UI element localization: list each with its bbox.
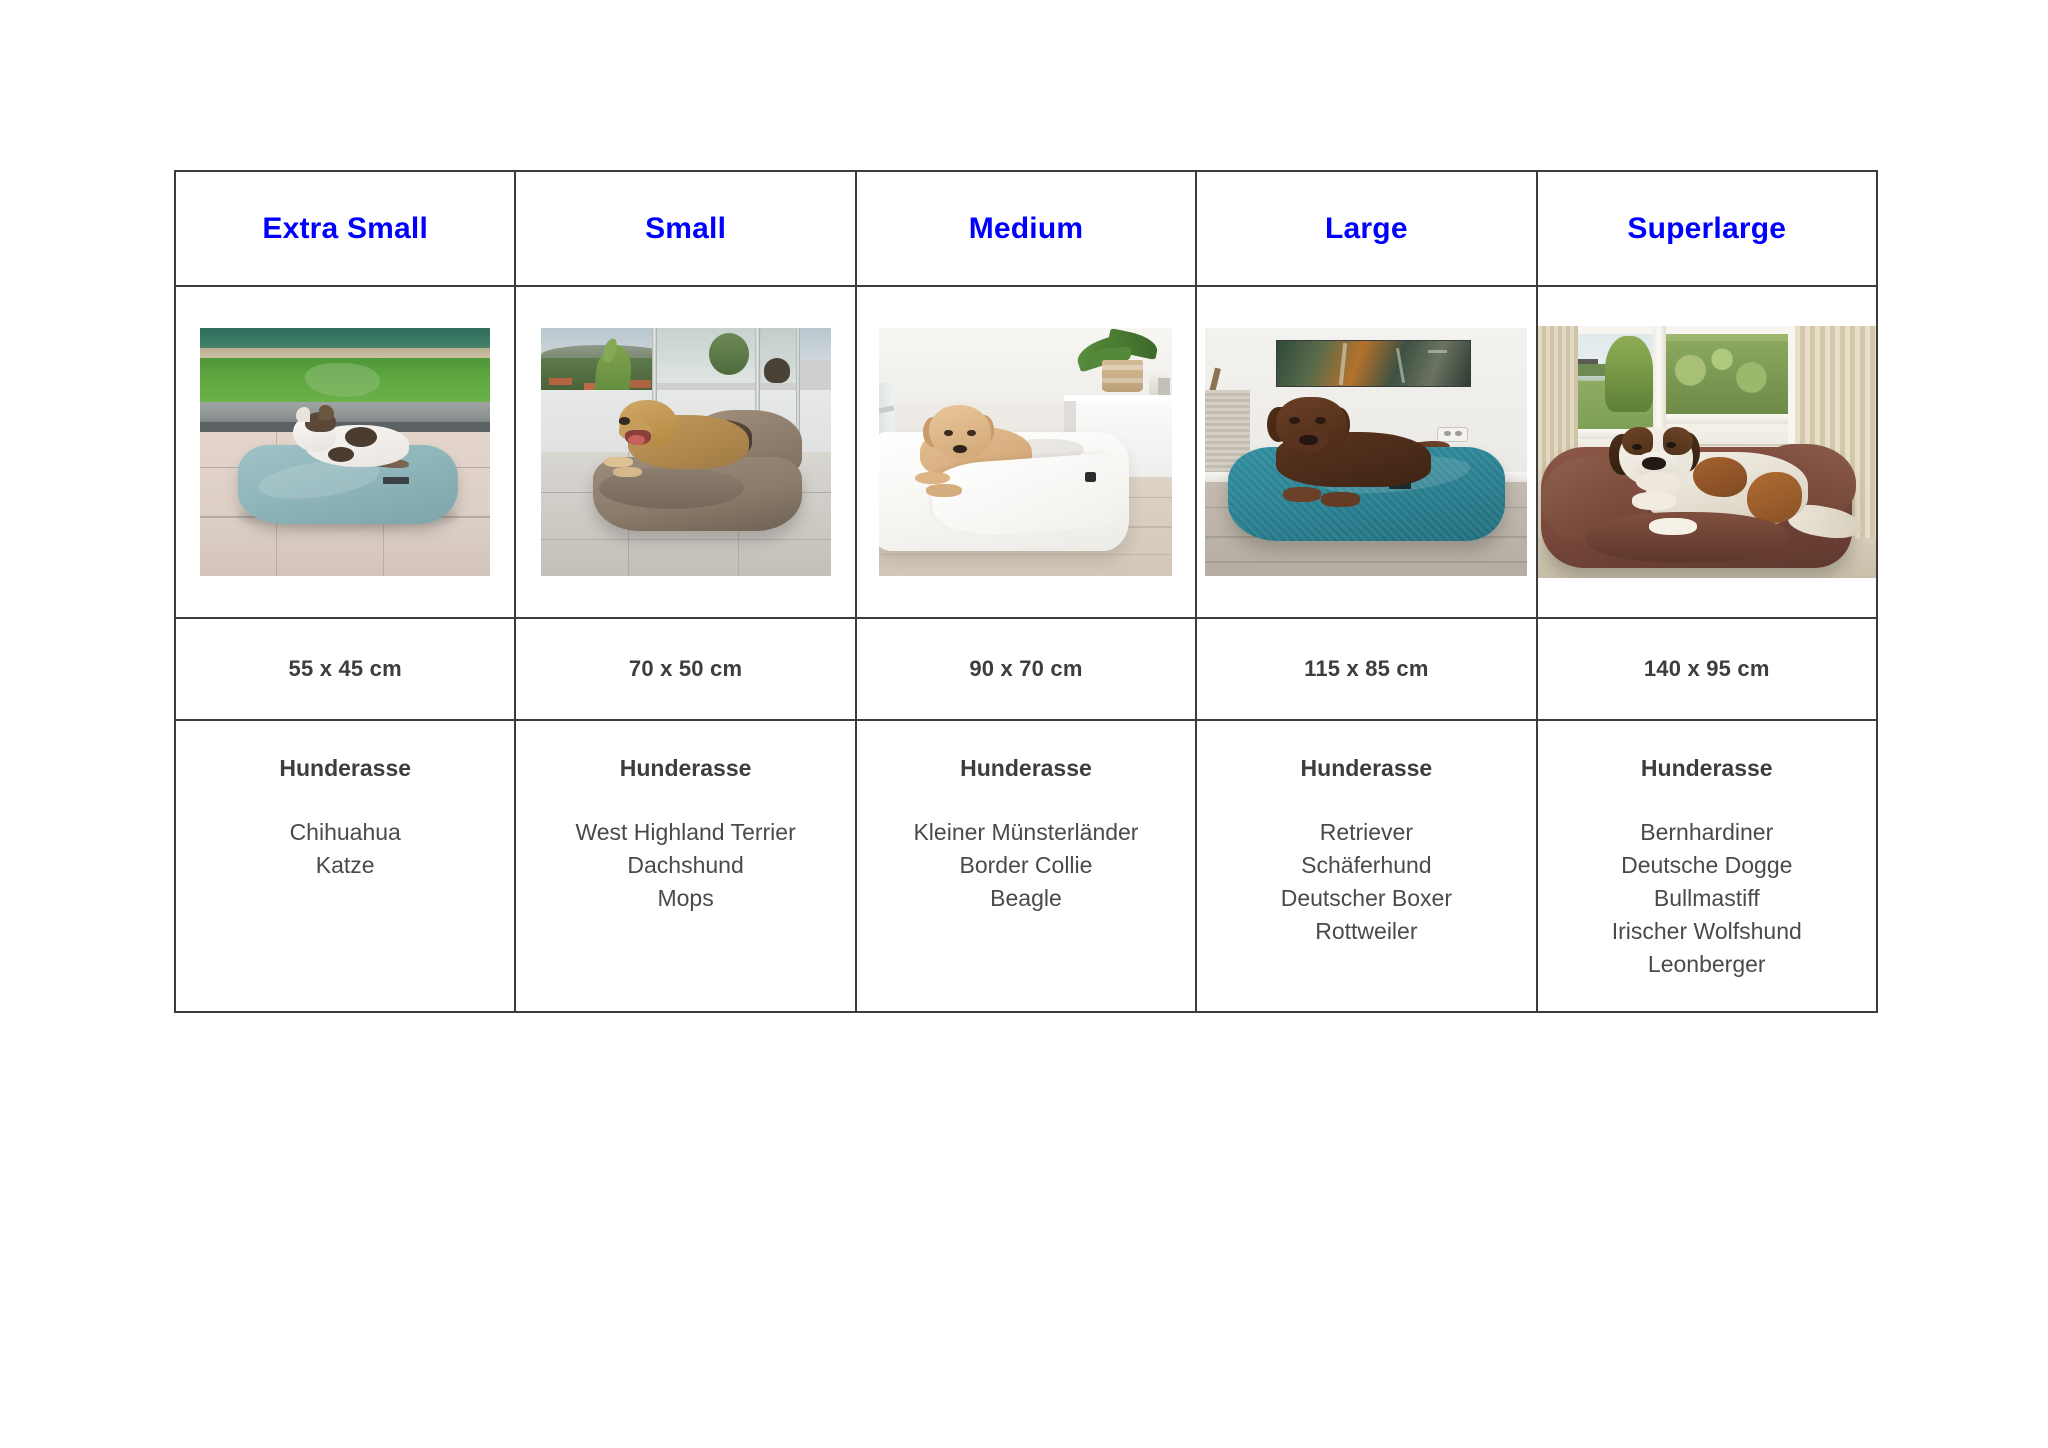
breed-item: Deutsche Dogge: [1538, 849, 1876, 882]
dimensions-cell-extra-small: 55 x 45 cm: [175, 618, 515, 720]
size-header-label: Small: [516, 214, 854, 244]
table-dimensions-row: 55 x 45 cm 70 x 50 cm 90 x 70 cm 115 x 8…: [175, 618, 1877, 720]
dimensions-label: 55 x 45 cm: [176, 656, 514, 682]
breed-item: Mops: [516, 882, 854, 915]
dimensions-label: 70 x 50 cm: [516, 656, 854, 682]
breed-item: Beagle: [857, 882, 1195, 915]
breed-section-title: Hunderasse: [1538, 755, 1876, 782]
product-photo-extra-small: [200, 328, 490, 576]
table-header-row: Extra Small Small Medium Large Superlarg…: [175, 171, 1877, 286]
breed-item: Border Collie: [857, 849, 1195, 882]
breeds-cell-medium: Hunderasse Kleiner Münsterländer Border …: [856, 720, 1196, 1012]
size-header-label: Large: [1197, 214, 1535, 244]
photo-cell-medium: [856, 286, 1196, 618]
breed-item: West Highland Terrier: [516, 816, 854, 849]
photo-cell-large: [1196, 286, 1536, 618]
product-photo-large: [1205, 328, 1527, 576]
photo-cell-small: [515, 286, 855, 618]
table-photo-row: [175, 286, 1877, 618]
breed-item: Leonberger: [1538, 948, 1876, 981]
size-header-label: Medium: [857, 214, 1195, 244]
dimensions-label: 115 x 85 cm: [1197, 656, 1535, 682]
dog-bed-size-table: Extra Small Small Medium Large Superlarg…: [174, 170, 1878, 1013]
breed-list: Retriever Schäferhund Deutscher Boxer Ro…: [1197, 816, 1535, 948]
product-photo-small: [541, 328, 831, 576]
breed-section-title: Hunderasse: [176, 755, 514, 782]
photo-cell-extra-small: [175, 286, 515, 618]
breeds-cell-extra-small: Hunderasse Chihuahua Katze: [175, 720, 515, 1012]
breed-item: Kleiner Münsterländer: [857, 816, 1195, 849]
size-header-label: Extra Small: [176, 214, 514, 244]
breed-item: Rottweiler: [1197, 915, 1535, 948]
breed-list: Chihuahua Katze: [176, 816, 514, 882]
dimensions-label: 140 x 95 cm: [1538, 656, 1876, 682]
document-page: Extra Small Small Medium Large Superlarg…: [0, 0, 2048, 1448]
breed-item: Schäferhund: [1197, 849, 1535, 882]
dimensions-cell-superlarge: 140 x 95 cm: [1537, 618, 1877, 720]
dimensions-label: 90 x 70 cm: [857, 656, 1195, 682]
dimensions-cell-large: 115 x 85 cm: [1196, 618, 1536, 720]
breed-list: Kleiner Münsterländer Border Collie Beag…: [857, 816, 1195, 915]
breed-section-title: Hunderasse: [516, 755, 854, 782]
product-photo-medium: [879, 328, 1172, 576]
breed-item: Dachshund: [516, 849, 854, 882]
breed-item: Bernhardiner: [1538, 816, 1876, 849]
breed-item: Irischer Wolfshund: [1538, 915, 1876, 948]
dimensions-cell-small: 70 x 50 cm: [515, 618, 855, 720]
breeds-cell-large: Hunderasse Retriever Schäferhund Deutsch…: [1196, 720, 1536, 1012]
breeds-cell-superlarge: Hunderasse Bernhardiner Deutsche Dogge B…: [1537, 720, 1877, 1012]
size-header-label: Superlarge: [1538, 214, 1876, 244]
breed-list: Bernhardiner Deutsche Dogge Bullmastiff …: [1538, 816, 1876, 981]
photo-cell-superlarge: [1537, 286, 1877, 618]
header-cell-large: Large: [1196, 171, 1536, 286]
breed-item: Bullmastiff: [1538, 882, 1876, 915]
table-breeds-row: Hunderasse Chihuahua Katze Hunderasse We…: [175, 720, 1877, 1012]
breed-item: Katze: [176, 849, 514, 882]
breed-item: Retriever: [1197, 816, 1535, 849]
product-photo-superlarge: [1538, 326, 1876, 578]
breed-section-title: Hunderasse: [857, 755, 1195, 782]
header-cell-small: Small: [515, 171, 855, 286]
breeds-cell-small: Hunderasse West Highland Terrier Dachshu…: [515, 720, 855, 1012]
breed-item: Chihuahua: [176, 816, 514, 849]
header-cell-superlarge: Superlarge: [1537, 171, 1877, 286]
breed-section-title: Hunderasse: [1197, 755, 1535, 782]
breed-item: Deutscher Boxer: [1197, 882, 1535, 915]
header-cell-extra-small: Extra Small: [175, 171, 515, 286]
dimensions-cell-medium: 90 x 70 cm: [856, 618, 1196, 720]
header-cell-medium: Medium: [856, 171, 1196, 286]
breed-list: West Highland Terrier Dachshund Mops: [516, 816, 854, 915]
